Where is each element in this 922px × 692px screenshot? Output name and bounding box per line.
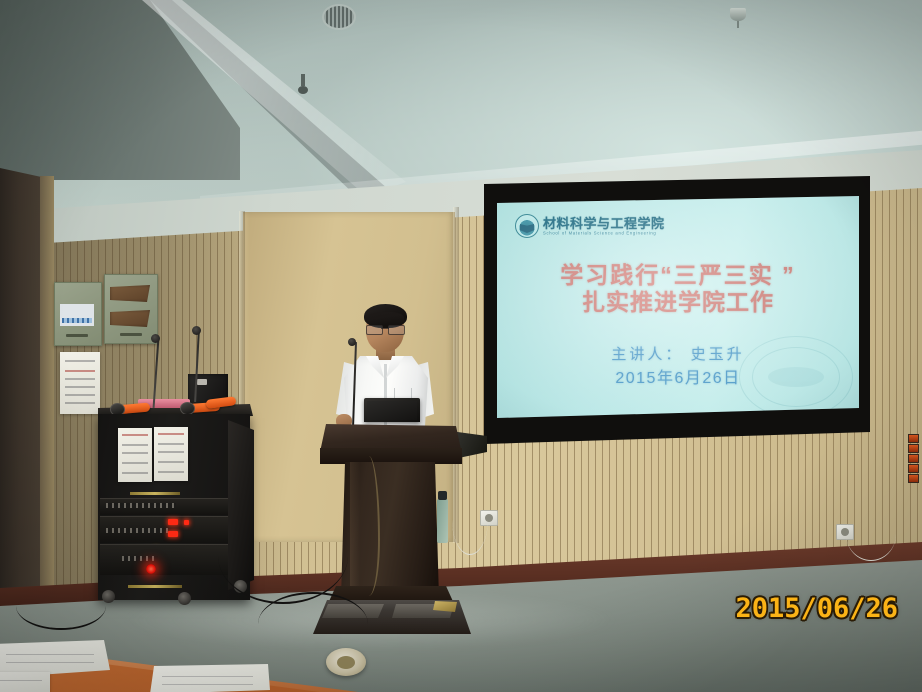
slide-logo-chinese: 材料科学与工程学院 (543, 217, 665, 230)
rack-indicator-strip (908, 444, 919, 453)
corner-edge-trim (40, 176, 54, 616)
book-shield-seal-icon (515, 214, 539, 238)
wall-notice-sheet (60, 352, 100, 414)
sprinkler-head-icon (730, 8, 746, 21)
mixer-knob-row[interactable] (106, 528, 172, 533)
desk-paper[interactable] (150, 664, 270, 692)
slide-logo-english: School of Materials Science and Engineer… (543, 231, 665, 236)
rack-indicator-strip (908, 464, 919, 473)
podium-mic-head-icon (348, 338, 356, 346)
status-led (168, 519, 178, 525)
player-panel[interactable] (100, 544, 228, 575)
rack-indicator-strip (908, 454, 919, 463)
gooseneck-mic-head-icon (151, 334, 160, 343)
rack-caster (178, 592, 191, 605)
rack-indicator-strip (908, 434, 919, 443)
material-sample-swatch (110, 310, 150, 327)
amplifier-knob-row[interactable] (106, 503, 176, 508)
slide-logo: 材料科学与工程学院 School of Materials Science an… (515, 214, 665, 238)
wall-pilaster-edge (453, 207, 459, 543)
desk-paper[interactable] (0, 672, 50, 692)
presenter-laptop[interactable] (364, 398, 420, 422)
podium-cable (352, 456, 380, 596)
rack-indicator-strip (908, 474, 919, 483)
rack-instruction-right (154, 427, 188, 481)
laptop-screen (367, 401, 417, 420)
display-board-right-label (120, 333, 142, 336)
ceiling-hook-icon (301, 74, 305, 86)
eyeglasses-bridge (381, 328, 389, 329)
rack-caster (102, 590, 115, 603)
bottle (437, 499, 448, 543)
board-chart-graphic (60, 304, 94, 326)
display-board-left-label (66, 334, 88, 337)
player-button-row[interactable] (122, 556, 158, 561)
podium-top-front (320, 448, 462, 464)
projection-screen[interactable]: 材料科学与工程学院 School of Materials Science an… (497, 196, 859, 418)
presentation-slide: 材料科学与工程学院 School of Materials Science an… (497, 196, 859, 418)
power-led (146, 564, 156, 574)
status-led (168, 531, 178, 537)
air-vent-icon (322, 4, 356, 30)
camera-date-stamp: 2015/06/26 (735, 593, 898, 624)
material-sample-swatch (110, 285, 150, 302)
gooseneck-mic-head-icon (192, 326, 201, 335)
tape-roll (326, 648, 366, 676)
university-seal-watermark (739, 336, 853, 418)
eyeglasses-icon (366, 325, 405, 334)
slide-title-line-2: 扎实推进学院工作 (497, 289, 859, 316)
rack-trim (130, 492, 180, 495)
rack-instruction-left (118, 428, 152, 482)
photograph: 材料科学与工程学院 School of Materials Science an… (0, 0, 922, 692)
slide-title-line-1: 学习践行“三严三实 ” (497, 262, 859, 289)
slide-title: 学习践行“三严三实 ” 扎实推进学院工作 (497, 262, 859, 315)
status-led (184, 520, 189, 525)
rack-trim (128, 585, 182, 588)
